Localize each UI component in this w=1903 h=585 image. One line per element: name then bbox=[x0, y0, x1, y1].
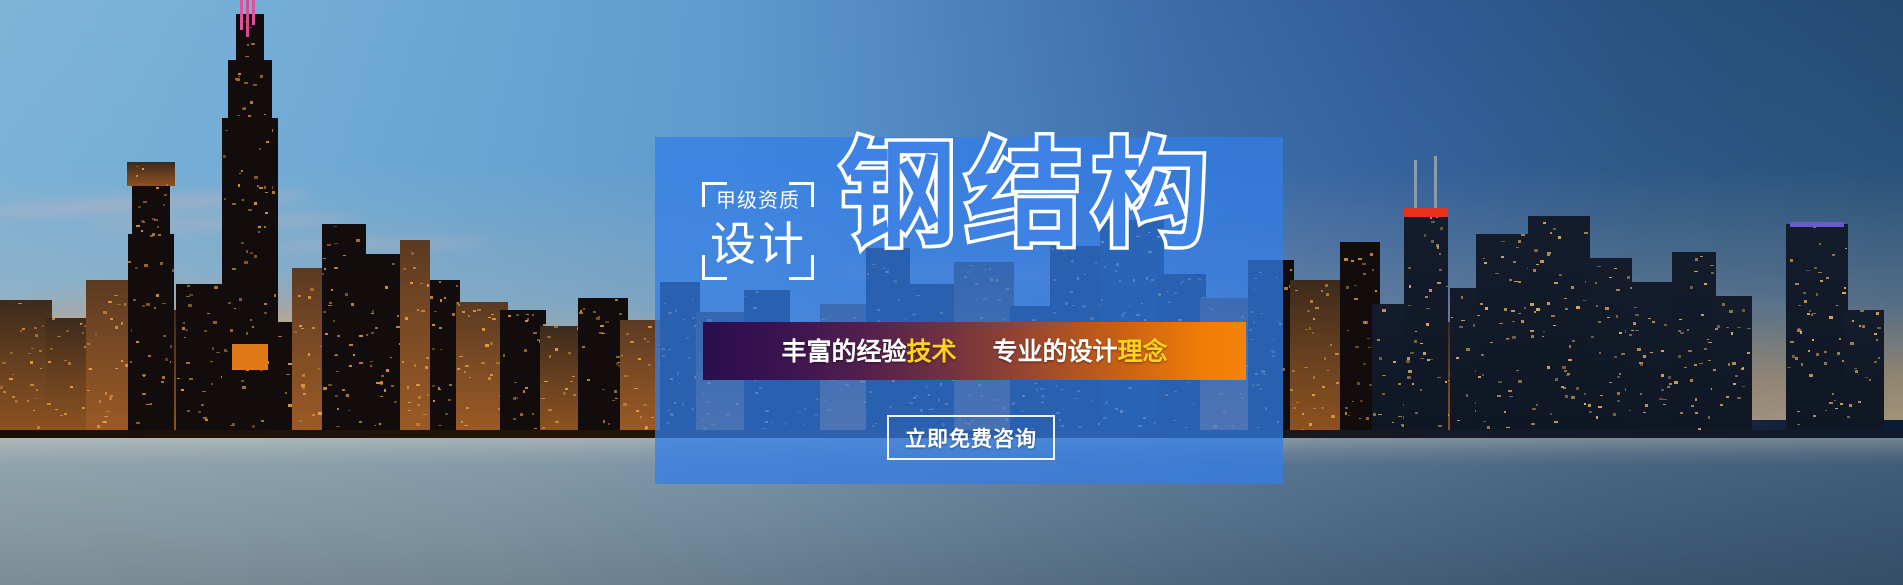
window-light bbox=[1543, 222, 1546, 224]
window-light bbox=[1398, 383, 1401, 385]
window-light bbox=[1348, 415, 1350, 416]
window-light bbox=[310, 288, 314, 291]
window-light bbox=[1550, 413, 1552, 415]
antenna bbox=[1434, 156, 1437, 208]
window-light bbox=[1634, 307, 1637, 308]
window-light bbox=[124, 303, 126, 306]
window-light bbox=[408, 410, 411, 411]
window-light bbox=[1437, 377, 1441, 378]
window-light bbox=[39, 350, 42, 352]
window-light bbox=[516, 314, 519, 316]
window-light bbox=[141, 230, 143, 232]
window-light bbox=[1616, 289, 1620, 291]
window-light bbox=[1694, 364, 1697, 366]
window-light bbox=[324, 268, 326, 270]
window-light bbox=[1351, 260, 1354, 262]
window-light bbox=[245, 56, 249, 57]
window-light bbox=[1704, 348, 1707, 350]
window-light bbox=[146, 404, 150, 405]
window-light bbox=[1589, 411, 1592, 413]
window-light bbox=[408, 402, 411, 403]
window-light bbox=[370, 365, 372, 367]
window-light bbox=[156, 294, 159, 297]
window-light bbox=[1490, 342, 1493, 343]
window-light bbox=[572, 376, 575, 377]
window-light bbox=[563, 392, 566, 395]
window-light bbox=[1309, 327, 1311, 330]
window-light bbox=[1360, 400, 1363, 402]
window-light bbox=[2, 362, 6, 364]
window-light bbox=[1826, 277, 1829, 279]
tower-tall bbox=[132, 182, 170, 430]
window-light bbox=[458, 304, 460, 306]
window-light bbox=[385, 286, 388, 289]
window-light bbox=[1501, 256, 1504, 258]
window-light bbox=[414, 364, 416, 367]
window-light bbox=[1729, 310, 1733, 313]
window-light bbox=[1695, 412, 1698, 414]
window-light bbox=[210, 361, 213, 362]
window-light bbox=[1722, 303, 1725, 306]
window-light bbox=[228, 302, 231, 304]
window-light bbox=[1372, 269, 1374, 271]
building bbox=[176, 284, 228, 430]
window-light bbox=[250, 319, 252, 321]
window-light bbox=[1798, 328, 1800, 329]
window-light bbox=[40, 368, 42, 369]
window-light bbox=[1437, 282, 1441, 284]
window-light bbox=[36, 389, 38, 391]
window-light bbox=[351, 303, 354, 306]
subtitle-phrase-2: 专业的设计理念 bbox=[993, 339, 1168, 364]
window-light bbox=[1691, 405, 1694, 407]
window-light bbox=[417, 309, 419, 311]
window-light bbox=[1547, 302, 1550, 305]
window-light bbox=[397, 315, 399, 317]
window-light bbox=[329, 302, 332, 304]
window-light bbox=[1819, 243, 1821, 245]
window-light bbox=[156, 187, 159, 189]
window-light bbox=[370, 361, 373, 362]
window-light bbox=[1398, 416, 1402, 417]
window-light bbox=[1551, 315, 1555, 317]
window-light bbox=[241, 380, 244, 382]
window-light bbox=[154, 219, 158, 221]
window-light bbox=[109, 397, 112, 400]
window-light bbox=[1459, 326, 1463, 328]
window-light bbox=[110, 318, 113, 320]
window-light bbox=[1543, 331, 1545, 332]
window-light bbox=[438, 389, 441, 390]
antenna bbox=[1414, 160, 1417, 208]
window-light bbox=[157, 226, 159, 228]
window-light bbox=[212, 347, 214, 350]
window-light bbox=[353, 354, 355, 356]
window-light bbox=[432, 324, 435, 326]
window-light bbox=[1812, 313, 1816, 314]
window-light bbox=[1572, 340, 1575, 342]
window-light bbox=[374, 425, 376, 426]
window-light bbox=[1501, 241, 1505, 242]
window-light bbox=[1561, 386, 1564, 388]
free-consultation-button[interactable]: 立即免费咨询 bbox=[887, 415, 1055, 460]
window-light bbox=[1531, 423, 1535, 425]
window-light bbox=[1787, 367, 1791, 368]
window-light bbox=[142, 305, 145, 307]
window-light bbox=[1690, 286, 1693, 289]
window-light bbox=[413, 267, 416, 269]
building bbox=[1712, 296, 1752, 430]
window-light bbox=[1430, 217, 1432, 219]
window-light bbox=[1382, 375, 1386, 376]
window-light bbox=[1829, 402, 1833, 404]
window-light bbox=[508, 315, 511, 317]
window-light bbox=[211, 383, 213, 385]
window-light bbox=[1562, 366, 1566, 369]
window-light bbox=[22, 328, 25, 330]
window-light bbox=[464, 371, 466, 373]
window-light bbox=[1567, 373, 1570, 375]
window-light bbox=[1614, 268, 1617, 269]
window-light bbox=[336, 371, 339, 372]
window-light bbox=[1345, 407, 1348, 409]
window-light bbox=[1674, 381, 1678, 384]
window-light bbox=[162, 303, 166, 304]
window-light bbox=[121, 360, 123, 362]
window-light bbox=[30, 384, 34, 386]
window-light bbox=[1431, 240, 1434, 243]
window-light bbox=[565, 388, 568, 390]
window-light bbox=[135, 267, 138, 269]
window-light bbox=[259, 148, 261, 150]
window-light bbox=[452, 313, 455, 316]
window-light bbox=[1354, 298, 1358, 300]
window-light bbox=[201, 404, 204, 406]
window-light bbox=[1690, 379, 1693, 382]
building bbox=[1528, 216, 1590, 430]
window-light bbox=[1504, 411, 1506, 413]
window-light bbox=[1284, 287, 1288, 290]
window-light bbox=[337, 335, 340, 337]
window-light bbox=[68, 362, 71, 365]
window-light bbox=[82, 332, 84, 334]
window-light bbox=[433, 400, 435, 402]
window-light bbox=[468, 315, 470, 317]
window-light bbox=[138, 206, 141, 208]
window-light bbox=[1484, 262, 1487, 264]
window-light bbox=[380, 396, 383, 397]
subtitle-phrase-2-plain: 专业的设计 bbox=[993, 337, 1118, 366]
window-light bbox=[384, 389, 386, 392]
window-light bbox=[1637, 348, 1641, 351]
window-light bbox=[1645, 404, 1648, 407]
window-light bbox=[254, 176, 258, 179]
window-light bbox=[1409, 285, 1411, 288]
window-light bbox=[133, 299, 136, 301]
window-light bbox=[238, 73, 241, 75]
building bbox=[540, 326, 582, 430]
window-light bbox=[242, 199, 244, 201]
window-light bbox=[1480, 303, 1483, 305]
window-light bbox=[136, 166, 138, 167]
window-light bbox=[1487, 426, 1490, 429]
window-light bbox=[1596, 416, 1598, 419]
window-light bbox=[1321, 290, 1323, 292]
window-light bbox=[286, 374, 290, 375]
window-light bbox=[15, 400, 18, 403]
window-light bbox=[1839, 338, 1841, 340]
window-light bbox=[1456, 357, 1459, 359]
window-light bbox=[143, 201, 147, 203]
window-light bbox=[1423, 352, 1426, 355]
qualification-badge: 甲级资质 设计 bbox=[702, 182, 814, 280]
window-light bbox=[1804, 300, 1807, 303]
window-light bbox=[623, 403, 627, 406]
window-light bbox=[260, 75, 263, 78]
window-light bbox=[386, 369, 389, 372]
window-light bbox=[1701, 314, 1704, 316]
window-light bbox=[204, 330, 207, 332]
window-light bbox=[1797, 424, 1800, 425]
window-light bbox=[106, 411, 110, 412]
window-light bbox=[524, 349, 527, 352]
window-light bbox=[1687, 329, 1689, 331]
window-light bbox=[1363, 273, 1366, 275]
window-light bbox=[587, 379, 590, 381]
window-light bbox=[323, 258, 326, 259]
antenna bbox=[252, 0, 255, 25]
window-light bbox=[102, 421, 106, 423]
window-light bbox=[136, 175, 138, 177]
window-light bbox=[526, 314, 529, 315]
window-light bbox=[247, 44, 249, 46]
window-light bbox=[1325, 284, 1328, 287]
window-light bbox=[299, 325, 302, 327]
window-light bbox=[439, 327, 442, 329]
window-light bbox=[1694, 271, 1698, 272]
window-light bbox=[142, 168, 144, 170]
window-light bbox=[254, 202, 257, 205]
window-light bbox=[1708, 416, 1710, 419]
window-light bbox=[150, 403, 152, 405]
window-light bbox=[1366, 417, 1369, 420]
window-light bbox=[1346, 286, 1349, 289]
window-light bbox=[207, 313, 210, 314]
window-light bbox=[1564, 298, 1567, 299]
window-light bbox=[647, 341, 649, 342]
window-light bbox=[1811, 314, 1813, 316]
window-light bbox=[1290, 389, 1293, 391]
window-light bbox=[1536, 404, 1538, 406]
window-light bbox=[1813, 415, 1816, 417]
window-light bbox=[1648, 318, 1651, 319]
window-light bbox=[1798, 305, 1801, 306]
window-light bbox=[1436, 244, 1439, 247]
window-light bbox=[70, 386, 73, 388]
window-light bbox=[1877, 327, 1881, 329]
window-light bbox=[1818, 272, 1822, 273]
window-light bbox=[1617, 376, 1620, 378]
window-light bbox=[636, 410, 639, 412]
window-light bbox=[146, 303, 150, 306]
window-light bbox=[1451, 317, 1453, 318]
window-light bbox=[379, 423, 381, 425]
window-light bbox=[1534, 249, 1538, 252]
window-light bbox=[254, 255, 257, 258]
window-light bbox=[64, 360, 67, 361]
hancock-center bbox=[1404, 214, 1448, 430]
window-light bbox=[1617, 392, 1620, 395]
window-light bbox=[1310, 300, 1313, 303]
window-light bbox=[1330, 344, 1332, 346]
window-light bbox=[614, 390, 617, 393]
window-light bbox=[626, 333, 629, 335]
window-light bbox=[1481, 354, 1484, 356]
window-light bbox=[416, 384, 420, 386]
window-light bbox=[1530, 330, 1534, 332]
window-light bbox=[1420, 343, 1423, 344]
window-light bbox=[1375, 290, 1377, 292]
window-light bbox=[1420, 389, 1422, 391]
window-light bbox=[488, 377, 491, 380]
window-light bbox=[238, 76, 240, 77]
building bbox=[46, 318, 90, 430]
window-light bbox=[183, 322, 185, 324]
window-light bbox=[1558, 236, 1561, 239]
window-light bbox=[600, 325, 604, 327]
window-light bbox=[1497, 395, 1501, 397]
window-light bbox=[1485, 307, 1488, 310]
window-light bbox=[1639, 362, 1643, 364]
window-light bbox=[464, 425, 468, 426]
window-light bbox=[1508, 390, 1512, 392]
window-light bbox=[525, 320, 528, 322]
window-light bbox=[349, 365, 352, 367]
window-light bbox=[1326, 293, 1329, 296]
window-light bbox=[1630, 287, 1632, 289]
window-light bbox=[186, 296, 190, 297]
window-light bbox=[1565, 395, 1568, 398]
window-light bbox=[439, 281, 441, 283]
window-light bbox=[1536, 308, 1540, 311]
window-light bbox=[648, 364, 651, 366]
window-light bbox=[425, 366, 428, 369]
window-light bbox=[643, 404, 647, 406]
window-light bbox=[237, 115, 240, 116]
window-light bbox=[394, 401, 397, 403]
window-light bbox=[187, 410, 190, 412]
window-light bbox=[163, 335, 166, 337]
window-light bbox=[605, 321, 609, 323]
window-light bbox=[1322, 386, 1325, 388]
window-light bbox=[1426, 323, 1429, 326]
window-light bbox=[1860, 310, 1864, 312]
window-light bbox=[1571, 286, 1574, 289]
building bbox=[322, 224, 366, 430]
window-light bbox=[1609, 382, 1612, 383]
window-light bbox=[473, 310, 476, 312]
window-light bbox=[257, 185, 259, 187]
window-light bbox=[336, 426, 340, 427]
window-light bbox=[1790, 259, 1793, 262]
window-light bbox=[239, 298, 242, 301]
window-light bbox=[555, 421, 559, 423]
window-light bbox=[1536, 264, 1539, 265]
window-light bbox=[1483, 421, 1486, 422]
window-light bbox=[115, 326, 118, 329]
window-light bbox=[349, 344, 353, 346]
window-light bbox=[33, 410, 35, 411]
window-light bbox=[421, 310, 425, 312]
window-light bbox=[1652, 321, 1655, 323]
window-light bbox=[37, 426, 40, 429]
window-light bbox=[325, 333, 328, 335]
page-title: 钢结构 bbox=[840, 138, 1218, 254]
window-light bbox=[1845, 248, 1847, 249]
window-light bbox=[1408, 267, 1411, 269]
window-light bbox=[1700, 256, 1703, 257]
window-light bbox=[1629, 410, 1631, 411]
window-light bbox=[420, 283, 423, 284]
window-light bbox=[108, 301, 112, 303]
window-light bbox=[430, 296, 433, 299]
window-light bbox=[95, 334, 97, 335]
window-light bbox=[1518, 313, 1521, 314]
window-light bbox=[187, 285, 190, 287]
window-light bbox=[238, 184, 240, 187]
window-light bbox=[163, 204, 165, 206]
window-light bbox=[1605, 307, 1609, 310]
window-light bbox=[258, 231, 260, 233]
window-light bbox=[252, 326, 254, 328]
window-light bbox=[299, 420, 302, 422]
window-light bbox=[1379, 357, 1382, 360]
window-light bbox=[9, 378, 13, 380]
window-light bbox=[1808, 350, 1810, 352]
window-light bbox=[503, 354, 505, 357]
window-light bbox=[1509, 279, 1512, 281]
window-light bbox=[573, 394, 576, 396]
window-light bbox=[1511, 310, 1515, 312]
window-light bbox=[172, 269, 174, 272]
window-light bbox=[638, 358, 641, 360]
window-light bbox=[1336, 382, 1339, 384]
window-light bbox=[57, 336, 61, 337]
window-light bbox=[164, 194, 167, 196]
window-light bbox=[1440, 227, 1443, 230]
lake-point-tower bbox=[1786, 224, 1848, 430]
window-light bbox=[342, 389, 345, 391]
window-light bbox=[161, 381, 164, 383]
window-light bbox=[371, 332, 374, 334]
building bbox=[0, 300, 52, 430]
window-light bbox=[248, 115, 251, 117]
window-light bbox=[303, 393, 306, 395]
window-light bbox=[1506, 427, 1510, 428]
window-light bbox=[1518, 281, 1521, 283]
window-light bbox=[1859, 325, 1861, 327]
window-light bbox=[1363, 363, 1366, 365]
window-light bbox=[477, 309, 481, 311]
window-light bbox=[252, 425, 255, 428]
window-light bbox=[1576, 387, 1579, 390]
window-light bbox=[1424, 234, 1426, 237]
window-light bbox=[1499, 323, 1503, 324]
window-light bbox=[555, 348, 558, 351]
window-light bbox=[294, 331, 297, 333]
window-light bbox=[1553, 228, 1556, 230]
window-light bbox=[1607, 317, 1610, 318]
